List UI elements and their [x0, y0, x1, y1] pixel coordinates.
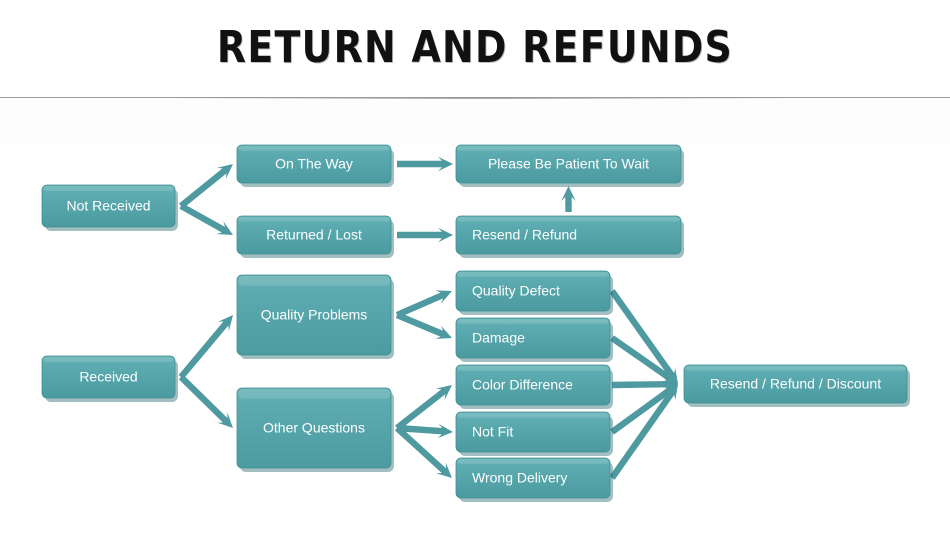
node-quality-problems[interactable]: Quality Problems [237, 275, 394, 359]
connector-e-received-otherquestions [179, 375, 233, 428]
node-label-resend-refund: Resend / Refund [472, 227, 577, 243]
connector-e-ontheway-pleasewait [397, 157, 453, 171]
connector-e-notreceived-returnedlost [179, 203, 233, 235]
node-label-on-the-way: On The Way [275, 156, 353, 172]
node-label-damage: Damage [472, 330, 525, 346]
node-label-resend-refund-discount: Resend / Refund / Discount [710, 376, 881, 392]
node-label-please-wait: Please Be Patient To Wait [488, 156, 649, 172]
slide-canvas: RETURN AND REFUNDS Not ReceivedOn The Wa… [0, 0, 950, 535]
connector-e-received-qualityproblems [179, 315, 233, 379]
node-label-not-received: Not Received [66, 198, 150, 214]
connector-e-qualityproblems-damage [396, 312, 452, 339]
node-label-returned-lost: Returned / Lost [266, 227, 362, 243]
node-damage[interactable]: Damage [456, 318, 613, 362]
node-received[interactable]: Received [42, 356, 178, 402]
node-label-other-questions: Other Questions [263, 420, 365, 436]
flowchart-svg: Not ReceivedOn The WayReturned / LostPle… [0, 99, 950, 535]
node-on-the-way[interactable]: On The Way [237, 145, 394, 187]
node-not-received[interactable]: Not Received [42, 185, 178, 231]
connector-e-qualitydefect-final [609, 289, 678, 384]
node-wrong-delivery[interactable]: Wrong Delivery [456, 458, 613, 502]
node-label-wrong-delivery: Wrong Delivery [472, 470, 567, 486]
node-not-fit[interactable]: Not Fit [456, 412, 613, 456]
node-returned-lost[interactable]: Returned / Lost [237, 216, 394, 258]
node-label-not-fit: Not Fit [472, 424, 513, 440]
connector-e-resendrefund-pleasewait [561, 186, 575, 212]
page-title: RETURN AND REFUNDS [67, 22, 884, 74]
flowchart-area: Not ReceivedOn The WayReturned / LostPle… [0, 99, 950, 535]
node-quality-defect[interactable]: Quality Defect [456, 271, 613, 315]
connector-e-otherquestions-colordifference [395, 385, 452, 431]
node-label-quality-problems: Quality Problems [261, 307, 368, 323]
node-resend-refund[interactable]: Resend / Refund [456, 216, 684, 258]
node-resend-refund-discount[interactable]: Resend / Refund / Discount [684, 365, 910, 407]
node-label-quality-defect: Quality Defect [472, 283, 560, 299]
node-label-received: Received [79, 369, 137, 385]
slide-header: RETURN AND REFUNDS [0, 0, 950, 99]
connector-e-qualityproblems-qualitydefect [396, 290, 452, 318]
connector-e-wrongdelivery-final [609, 384, 678, 480]
connector-e-returnedlost-resendrefund [397, 228, 453, 242]
node-color-difference[interactable]: Color Difference [456, 365, 613, 409]
connector-e-damage-final [610, 335, 678, 384]
nodes-layer: Not ReceivedOn The WayReturned / LostPle… [42, 145, 910, 502]
node-other-questions[interactable]: Other Questions [237, 388, 394, 472]
connector-e-notreceived-ontheway [179, 164, 233, 208]
node-please-wait[interactable]: Please Be Patient To Wait [456, 145, 684, 187]
node-label-color-difference: Color Difference [472, 377, 573, 393]
